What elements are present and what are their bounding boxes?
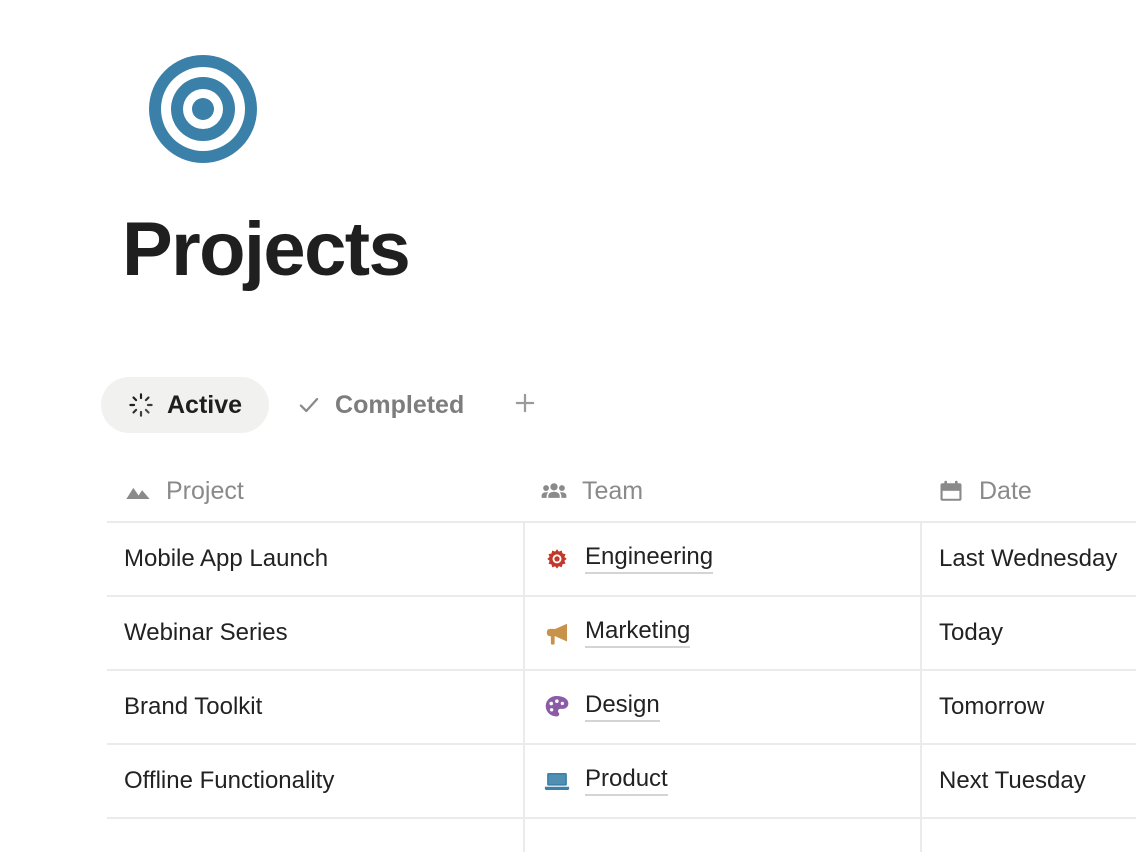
table-row[interactable]: Mobile App Launch Engineering Last Wedne… xyxy=(107,523,1136,597)
cell-date[interactable]: Tomorrow xyxy=(920,671,1136,743)
cell-team[interactable] xyxy=(523,819,920,852)
team-link[interactable]: Product xyxy=(585,766,668,796)
cell-project[interactable]: Brand Toolkit xyxy=(107,671,523,743)
table-header-row: Project xyxy=(107,462,1136,523)
team-link[interactable]: Engineering xyxy=(585,544,713,574)
target-icon xyxy=(148,54,258,164)
cell-date[interactable]: Last Wednesday xyxy=(920,523,1136,595)
tab-completed-label: Completed xyxy=(335,393,464,418)
cell-project[interactable]: Mobile App Launch xyxy=(107,523,523,595)
project-name: Mobile App Launch xyxy=(124,547,328,571)
mountains-icon xyxy=(124,478,152,506)
plus-icon xyxy=(512,390,538,421)
cell-project[interactable]: Webinar Series xyxy=(107,597,523,669)
cell-team[interactable]: Design xyxy=(523,671,920,743)
projects-page: Projects Active xyxy=(0,0,1136,852)
add-view-button[interactable] xyxy=(503,383,547,427)
column-header-project-label: Project xyxy=(166,479,244,504)
projects-table: Project xyxy=(107,462,1136,852)
team-link[interactable]: Design xyxy=(585,692,660,722)
column-header-project[interactable]: Project xyxy=(107,462,523,521)
tab-active-label: Active xyxy=(167,393,242,418)
cell-team[interactable]: Engineering xyxy=(523,523,920,595)
column-header-team-label: Team xyxy=(582,479,643,504)
laptop-icon xyxy=(542,766,572,796)
column-header-date[interactable]: Date xyxy=(920,462,1136,521)
cell-project[interactable]: Offline Functionality xyxy=(107,745,523,817)
team-link[interactable]: Marketing xyxy=(585,618,690,648)
table-row[interactable] xyxy=(107,819,1136,852)
people-group-icon xyxy=(540,478,568,506)
spinner-icon xyxy=(128,392,154,418)
date-value: Next Tuesday xyxy=(939,769,1086,793)
column-header-date-label: Date xyxy=(979,479,1032,504)
tab-completed[interactable]: Completed xyxy=(269,377,491,433)
calendar-icon xyxy=(937,478,965,506)
cell-date[interactable]: Today xyxy=(920,597,1136,669)
cell-project[interactable] xyxy=(107,819,523,852)
megaphone-icon xyxy=(542,618,572,648)
gear-icon xyxy=(542,544,572,574)
check-icon xyxy=(296,392,322,418)
table-row[interactable]: Offline Functionality Product Next Tuesd… xyxy=(107,745,1136,819)
page-title: Projects xyxy=(122,212,409,288)
tab-active[interactable]: Active xyxy=(101,377,269,433)
date-value: Today xyxy=(939,621,1003,645)
cell-team[interactable]: Marketing xyxy=(523,597,920,669)
cell-date[interactable]: Next Tuesday xyxy=(920,745,1136,817)
view-tabs: Active Completed xyxy=(101,377,547,433)
table-row[interactable]: Webinar Series Marketing Today xyxy=(107,597,1136,671)
cell-team[interactable]: Product xyxy=(523,745,920,817)
column-header-team[interactable]: Team xyxy=(523,462,920,521)
project-name: Webinar Series xyxy=(124,621,288,645)
date-value: Tomorrow xyxy=(939,695,1044,719)
project-name: Offline Functionality xyxy=(124,769,334,793)
table-row[interactable]: Brand Toolkit Design xyxy=(107,671,1136,745)
cell-date[interactable] xyxy=(920,819,1136,852)
date-value: Last Wednesday xyxy=(939,547,1117,571)
project-name: Brand Toolkit xyxy=(124,695,262,719)
palette-icon xyxy=(542,692,572,722)
